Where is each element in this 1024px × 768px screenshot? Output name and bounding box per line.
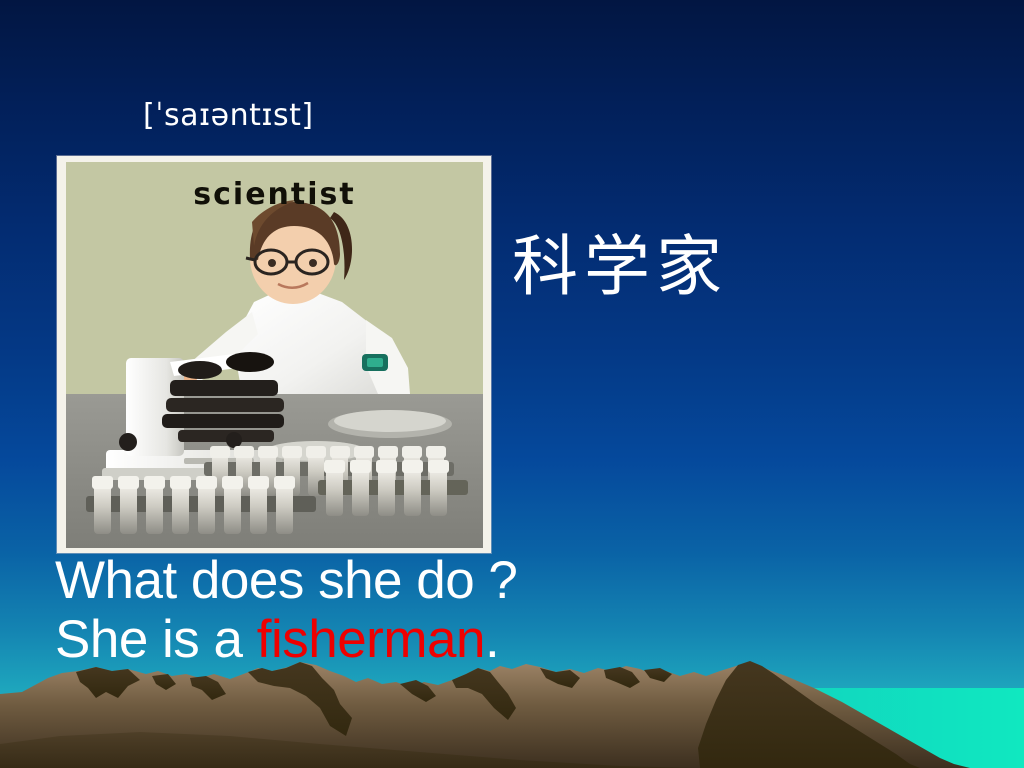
phonetic-transcription: [ˈsaɪəntɪst]: [143, 98, 314, 133]
picture-caption-word: scientist: [66, 177, 483, 212]
answer-line: She is a fisherman.: [55, 610, 517, 669]
chinese-gloss: 科学家: [512, 234, 728, 300]
answer-prefix: She is a: [55, 610, 257, 669]
question-line: What does she do ?: [55, 551, 517, 610]
sentence-block: What does she do ? She is a fisherman.: [55, 551, 517, 669]
answer-keyword: fisherman: [257, 610, 485, 669]
vocabulary-picture-card: scientist: [57, 156, 491, 553]
test-tube-rack-front: [86, 476, 316, 534]
picture-illustration: scientist: [66, 162, 483, 548]
test-tube-rack-right: [318, 460, 468, 516]
answer-suffix: .: [485, 610, 499, 669]
slide-canvas: [ˈsaɪəntɪst]: [0, 0, 1024, 768]
